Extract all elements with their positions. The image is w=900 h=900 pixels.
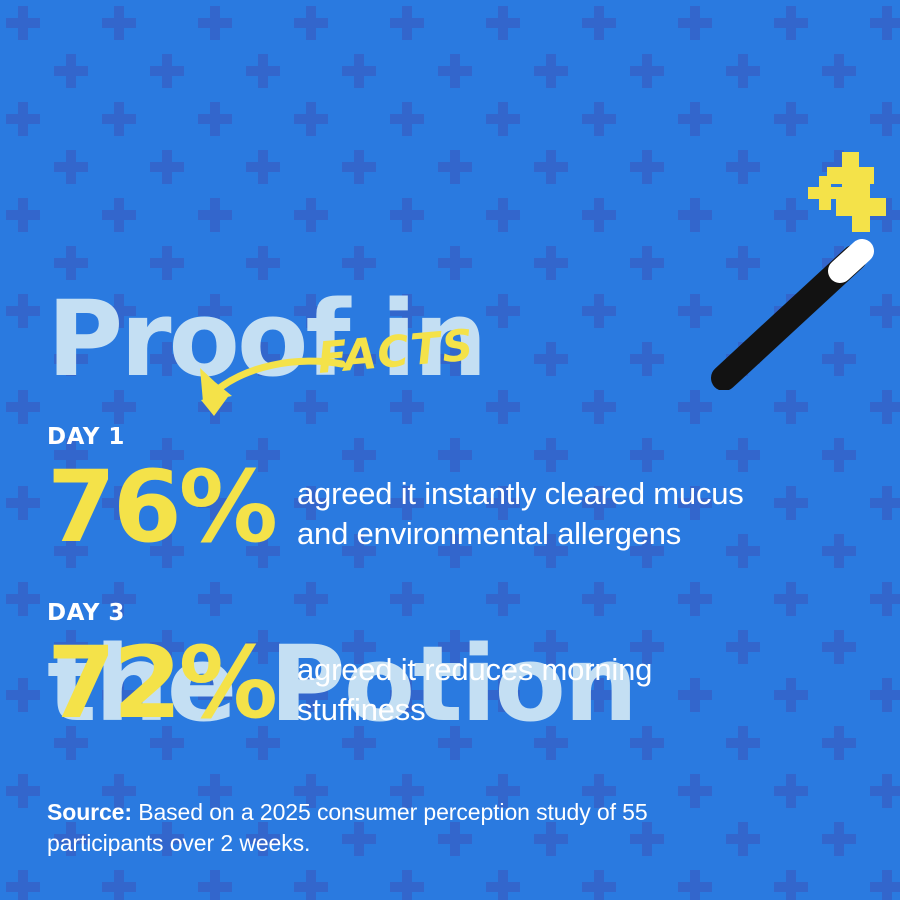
- source-label: Source:: [47, 799, 132, 825]
- stat-block-day-3: DAY 3 72% agreed it reduces morning stuf…: [47, 600, 767, 732]
- stat-percentage: 72%: [47, 636, 297, 732]
- source-note: Source: Based on a 2025 consumer percept…: [47, 797, 747, 859]
- stat-block-day-1: DAY 1 76% agreed it instantly cleared mu…: [47, 424, 767, 556]
- sparkle-icon-group: [808, 152, 886, 232]
- facts-callout: FACTS: [170, 332, 500, 432]
- source-text: Based on a 2025 consumer perception stud…: [47, 799, 648, 856]
- day-label: DAY 3: [47, 600, 767, 626]
- stat-percentage: 76%: [47, 460, 297, 556]
- day-label: DAY 1: [47, 424, 767, 450]
- stat-description: agreed it instantly cleared mucus and en…: [297, 460, 767, 554]
- stat-row: 72% agreed it reduces morning stuffiness: [47, 636, 767, 732]
- stat-row: 76% agreed it instantly cleared mucus an…: [47, 460, 767, 556]
- poster-canvas: Proof in the Potion FACTS DAY 1 76% agre…: [0, 0, 900, 900]
- magic-wand-graphic: [700, 140, 900, 390]
- stat-description: agreed it reduces morning stuffiness: [297, 636, 767, 730]
